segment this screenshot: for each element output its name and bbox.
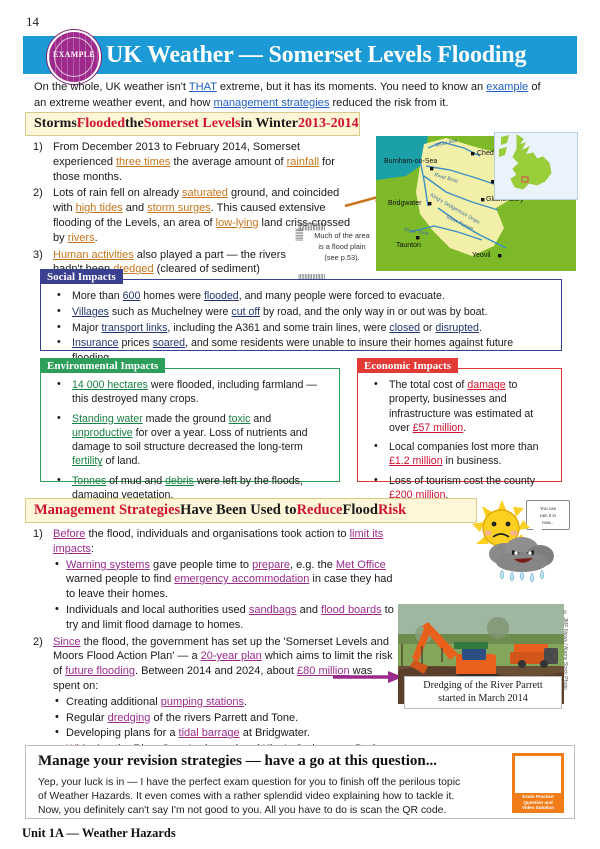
- mgmt-item-1-b: :: [91, 543, 94, 555]
- link-villages[interactable]: Villages: [72, 306, 109, 318]
- social-b4-b: prices: [119, 337, 153, 349]
- map-label-yeovil: Yeovil: [472, 252, 491, 259]
- m2s3-a: Developing plans for a: [66, 727, 179, 739]
- intro-text-2: extreme, but it has its moments. You nee…: [217, 81, 483, 93]
- economic-impacts-title: Economic Impacts: [357, 358, 458, 373]
- link-tonnes[interactable]: Tonnes: [72, 475, 106, 487]
- link-example[interactable]: example: [486, 81, 528, 93]
- photo-credit: © JMF News / Alamy Stock Photo: [562, 610, 568, 690]
- mgmt-1-sub-2: Individuals and local authorities used s…: [53, 603, 403, 633]
- m2s1-b: .: [244, 696, 247, 708]
- dredging-pointer-arrow: [333, 670, 405, 684]
- link-rivers[interactable]: rivers: [68, 232, 95, 244]
- mgmt-heading-w2: Have Been Used to: [180, 502, 296, 519]
- link-high-tides[interactable]: high tides: [76, 202, 123, 214]
- link-disrupted[interactable]: disrupted: [435, 322, 479, 334]
- map-label-bridgwater: Bridgwater: [388, 200, 422, 207]
- link-unproductive[interactable]: unproductive: [72, 427, 133, 439]
- note-line-3: (see p.53).: [296, 252, 388, 263]
- mgmt-heading-w5: Risk: [378, 502, 406, 519]
- m1s1-c: warned people to find: [66, 573, 174, 585]
- revision-box: Manage your revision strategies — have a…: [25, 745, 575, 819]
- link-14000-hectares[interactable]: 14 000 hectares: [72, 379, 148, 391]
- link-tidal-barrage[interactable]: tidal barrage: [179, 727, 240, 739]
- qr-code-label: Exam Practice Question and Video Solutio…: [515, 793, 561, 810]
- qr-label-line-3: Video Solution: [515, 805, 561, 811]
- environmental-impacts-box: Environmental Impacts 14 000 hectares we…: [40, 368, 340, 482]
- link-debris[interactable]: debris: [165, 475, 194, 487]
- link-three-times[interactable]: three times: [116, 156, 170, 168]
- mgmt-heading-w1: Management Strategies: [34, 502, 180, 519]
- mgmt-2-sub-3: Developing plans for a tidal barrage at …: [53, 726, 403, 741]
- link-warning-systems[interactable]: Warning systems: [66, 559, 150, 571]
- somerset-levels-map: Burnham-on-Sea Cheddar Wells Bridgwater …: [376, 136, 576, 271]
- weather-cartoon: You can rain it in now...: [468, 498, 580, 590]
- note-line-1: Much of the area: [296, 230, 388, 241]
- storms-item-1: 1) From December 2013 to February 2014, …: [31, 140, 361, 184]
- title-banner: EXAMPLE UK Weather — Somerset Levels Flo…: [23, 36, 577, 74]
- storms-item-1-number: 1): [33, 140, 43, 155]
- social-b2-b: such as Muchelney were: [109, 306, 231, 318]
- storms-item-2-c: and: [123, 202, 147, 214]
- storms-heading-w1: Storms: [34, 116, 77, 132]
- environmental-impacts-list: 14 000 hectares were flooded, including …: [41, 369, 339, 513]
- env-b3-a: of mud and: [106, 475, 165, 487]
- mgmt-1-sub-1: Warning systems gave people time to prep…: [53, 558, 403, 602]
- link-future-flooding[interactable]: future flooding: [65, 665, 135, 677]
- intro-paragraph: On the whole, UK weather isn't THAT extr…: [34, 80, 554, 111]
- storms-heading-w4: Somerset Levels: [144, 116, 241, 132]
- link-since[interactable]: Since: [53, 636, 81, 648]
- storms-heading-w5: in Winter: [241, 116, 298, 132]
- link-flood-boards[interactable]: flood boards: [321, 604, 382, 616]
- note-text: Much of the area is a flood plain (see p…: [296, 222, 388, 280]
- revision-line-3: Now, you definitely can't say I'm not go…: [38, 804, 508, 818]
- link-human-activities[interactable]: Human activities: [53, 249, 134, 261]
- environmental-impacts-title: Environmental Impacts: [40, 358, 165, 373]
- env-b2-b: and: [250, 413, 271, 425]
- mgmt-heading-w4: Flood: [342, 502, 377, 519]
- link-met-office[interactable]: Met Office: [336, 559, 386, 571]
- note-line-2: is a flood plain: [296, 241, 388, 252]
- social-b3-c: or: [420, 322, 435, 334]
- link-emergency-accommodation[interactable]: emergency accommodation: [174, 573, 309, 585]
- link-prepare[interactable]: prepare: [252, 559, 290, 571]
- econ-b3-a: Loss of tourism cost the county: [389, 475, 535, 487]
- link-that[interactable]: THAT: [189, 81, 217, 93]
- link-standing-water[interactable]: Standing water: [72, 413, 143, 425]
- link-57-million[interactable]: £57 million: [413, 422, 464, 434]
- mgmt-item-1-a: the flood, individuals and organisations…: [85, 528, 349, 540]
- storms-heading-w6: 2013-2014: [298, 116, 359, 132]
- uk-inset-map: [494, 132, 578, 200]
- m1s1-a: gave people time to: [150, 559, 252, 571]
- link-transport-links[interactable]: transport links: [101, 322, 167, 334]
- link-600[interactable]: 600: [123, 290, 141, 302]
- social-b1-b: homes were: [140, 290, 204, 302]
- storms-item-1-b: the average amount of: [170, 156, 286, 168]
- link-damage[interactable]: damage: [467, 379, 505, 391]
- social-b2-c: by road, and the only way in or out was …: [260, 306, 487, 318]
- m2s3-b: at Bridgwater.: [240, 727, 310, 739]
- link-management-strategies[interactable]: management strategies: [213, 97, 329, 109]
- management-list: 1) Before the flood, individuals and org…: [31, 527, 403, 775]
- link-cut-off[interactable]: cut off: [231, 306, 260, 318]
- link-dredging[interactable]: dredging: [108, 712, 151, 724]
- sun-cloud-rain-icon: [468, 498, 580, 590]
- m1s1-b: , e.g. the: [290, 559, 336, 571]
- m2s1-a: Creating additional: [66, 696, 161, 708]
- storms-item-2-number: 2): [33, 186, 43, 201]
- social-b3-d: .: [479, 322, 482, 334]
- econ-b1-c: .: [463, 422, 466, 434]
- badge-label: EXAMPLE: [49, 50, 99, 59]
- storms-item-2-f: .: [95, 232, 98, 244]
- photo-caption-line-1: Dredging of the River Parrett: [407, 680, 559, 693]
- econ-b2-a: Local companies lost more than: [389, 441, 539, 453]
- storms-item-2-a: Lots of rain fell on already: [53, 187, 182, 199]
- social-bullet-1: More than 600 homes were flooded, and ma…: [49, 289, 553, 303]
- link-rainfall[interactable]: rainfall: [287, 156, 319, 168]
- mgmt-heading-w3: Reduce: [297, 502, 343, 519]
- storms-heading: Storms Flooded the Somerset Levels in Wi…: [25, 112, 360, 136]
- uk-inset-svg: [495, 133, 575, 197]
- link-20-year-plan[interactable]: 20-year plan: [201, 650, 262, 662]
- env-b2-d: of land.: [103, 455, 141, 467]
- qr-code-box[interactable]: Exam Practice Question and Video Solutio…: [512, 753, 564, 813]
- social-b3-a: Major: [72, 322, 101, 334]
- page-title: UK Weather — Somerset Levels Flooding: [106, 42, 526, 69]
- map-label-burnham: Burnham-on-Sea: [384, 158, 437, 165]
- link-closed[interactable]: closed: [389, 322, 420, 334]
- social-b1-c: , and many people were forced to evacuat…: [239, 290, 445, 302]
- link-toxic[interactable]: toxic: [229, 413, 251, 425]
- storms-item-3-number: 3): [33, 248, 43, 263]
- social-impacts-box: Social Impacts More than 600 homes were …: [40, 279, 562, 351]
- link-saturated[interactable]: saturated: [182, 187, 228, 199]
- social-bullet-3: Major transport links, including the A36…: [49, 321, 553, 335]
- link-1-2-million[interactable]: £1.2 million: [389, 455, 443, 467]
- mgmt-2-sub-2: Regular dredging of the rivers Parrett a…: [53, 711, 403, 726]
- mgmt-item-1-number: 1): [33, 527, 43, 542]
- social-b1-a: More than: [72, 290, 123, 302]
- link-fertility[interactable]: fertility: [72, 455, 103, 467]
- example-badge-icon: EXAMPLE: [47, 30, 101, 84]
- mgmt-item-2-number: 2): [33, 635, 43, 650]
- mgmt-item-1-sublist: Warning systems gave people time to prep…: [53, 558, 403, 633]
- management-heading: Management Strategies Have Been Used to …: [25, 498, 477, 523]
- revision-title: Manage your revision strategies — have a…: [38, 753, 437, 770]
- m2s2-a: Regular: [66, 712, 108, 724]
- economic-impacts-box: Economic Impacts The total cost of damag…: [357, 368, 562, 482]
- link-low-lying[interactable]: low-lying: [216, 217, 259, 229]
- social-bullet-2: Villages such as Muchelney were cut off …: [49, 305, 553, 319]
- link-storm-surges[interactable]: storm surges: [147, 202, 211, 214]
- social-b3-b: , including the A361 and some train line…: [167, 322, 389, 334]
- m2s2-b: of the rivers Parrett and Tone.: [150, 712, 298, 724]
- economic-impacts-list: The total cost of damage to property, bu…: [358, 369, 561, 513]
- link-sandbags[interactable]: sandbags: [249, 604, 297, 616]
- mgmt-item-1: 1) Before the flood, individuals and org…: [31, 527, 403, 633]
- link-soared[interactable]: soared: [153, 337, 185, 349]
- storms-heading-w2: Flooded: [77, 116, 125, 132]
- econ-bullet-2: Local companies lost more than £1.2 mill…: [366, 440, 553, 469]
- page-footer: Unit 1A — Weather Hazards: [22, 826, 176, 841]
- env-bullet-1: 14 000 hectares were flooded, including …: [49, 378, 331, 407]
- mgmt-item-2-c: . Between 2014 and 2024, about: [135, 665, 297, 677]
- link-before[interactable]: Before: [53, 528, 85, 540]
- photo-caption: Dredging of the River Parrett started in…: [404, 676, 562, 709]
- econ-b1-a: The total cost of: [389, 379, 467, 391]
- intro-text-4: reduced the risk from it.: [329, 97, 448, 109]
- flood-plain-note: ||||||||||||||||| ||||||||||||||||| ||||…: [296, 222, 388, 280]
- revision-body: Yep, your luck is in — I have the perfec…: [38, 776, 508, 819]
- intro-text-1: On the whole, UK weather isn't: [34, 81, 189, 93]
- econ-b2-b: in business.: [443, 455, 502, 467]
- page-number: 14: [26, 14, 39, 30]
- env-bullet-2: Standing water made the ground toxic and…: [49, 412, 331, 469]
- link-flooded[interactable]: flooded: [204, 290, 239, 302]
- revision-line-2: of Weather Hazards. It even comes with a…: [38, 790, 508, 804]
- photo-caption-line-2: started in March 2014: [407, 693, 559, 706]
- map-label-taunton: Taunton: [396, 242, 421, 249]
- link-insurance[interactable]: Insurance: [72, 337, 119, 349]
- link-pumping-stations[interactable]: pumping stations: [161, 696, 244, 708]
- raindrops-icon: [500, 570, 544, 582]
- econ-bullet-1: The total cost of damage to property, bu…: [366, 378, 553, 435]
- social-impacts-title: Social Impacts: [40, 269, 123, 284]
- env-b2-a: made the ground: [143, 413, 229, 425]
- mgmt-2-sub-1: Creating additional pumping stations.: [53, 695, 403, 710]
- page-root: 14 EXAMPLE UK Weather — Somerset Levels …: [0, 0, 600, 849]
- m1s2-b: and: [297, 604, 321, 616]
- m1s2-a: Individuals and local authorities used: [66, 604, 249, 616]
- revision-line-1: Yep, your luck is in — I have the perfec…: [38, 776, 508, 790]
- storms-heading-w3: the: [125, 116, 144, 132]
